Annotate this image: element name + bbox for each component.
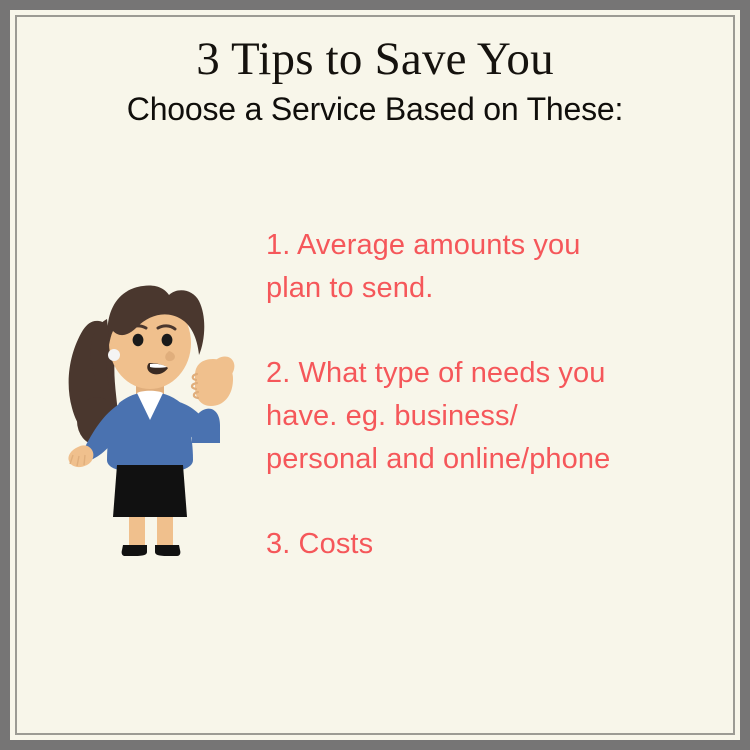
skirt — [113, 465, 187, 517]
left-eye — [133, 334, 144, 346]
fist — [195, 359, 233, 406]
frame-gap: 3 Tips to Save You Choose a Service Base… — [10, 10, 740, 740]
tip-item-1: 1. Average amounts you plan to send. — [266, 224, 733, 310]
earring — [108, 349, 120, 361]
poster-canvas: 3 Tips to Save You Choose a Service Base… — [17, 17, 733, 733]
woman-thumbs-up-illustration — [61, 275, 251, 560]
right-shoe — [155, 545, 180, 556]
page-subtitle: Choose a Service Based on These: — [17, 90, 733, 128]
poster-frame: 3 Tips to Save You Choose a Service Base… — [0, 0, 750, 750]
tips-list: 1. Average amounts you plan to send. 2. … — [266, 224, 733, 566]
page-title: 3 Tips to Save You — [17, 32, 733, 86]
right-eye — [162, 334, 173, 346]
tip-item-3: 3. Costs — [266, 523, 733, 566]
tip-item-2: 2. What type of needs you have. eg. busi… — [266, 352, 733, 481]
left-shoe — [122, 545, 147, 556]
frame-inner-rule: 3 Tips to Save You Choose a Service Base… — [15, 15, 735, 735]
